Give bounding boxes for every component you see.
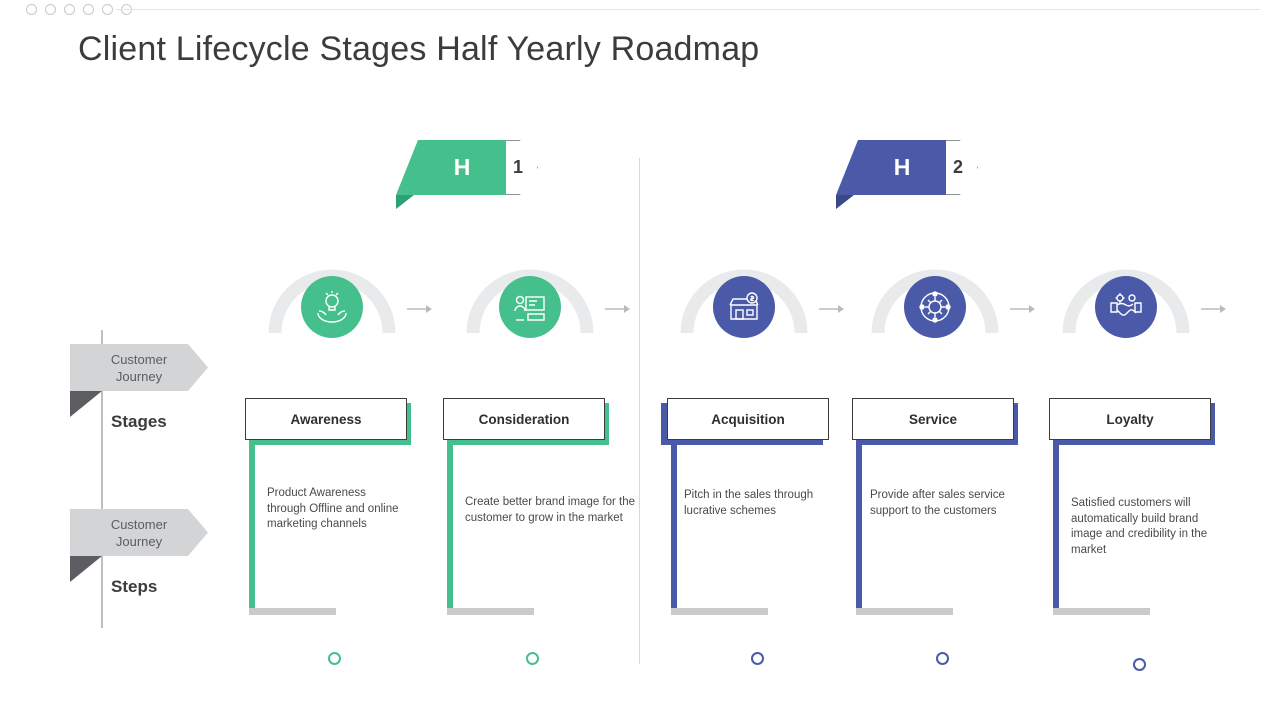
stage-description-awareness: Product Awareness through Offline and on… — [267, 486, 399, 533]
stem-awareness — [249, 440, 255, 608]
endpoint-dot-acquisition — [751, 652, 764, 665]
tag-corner-1 — [70, 391, 102, 417]
top-rule — [116, 9, 1260, 10]
hands-idea-icon — [301, 276, 363, 338]
stage-name: Acquisition — [711, 412, 785, 427]
tag-line-1: Customer — [111, 351, 167, 368]
stem-consideration — [447, 440, 453, 608]
endpoint-dot-loyalty — [1133, 658, 1146, 671]
stem-acquisition — [671, 440, 677, 608]
stages-title: Stages — [111, 412, 167, 432]
stage-name: Service — [909, 412, 957, 427]
stage-description-acquisition: Pitch in the sales through lucrative sch… — [684, 488, 854, 519]
tag-line-2: Journey — [116, 368, 162, 385]
tag-line-1: Customer — [111, 516, 167, 533]
flow-arrow-4 — [1010, 301, 1036, 311]
slide-dot — [64, 4, 75, 15]
half-banner-2-number: 2 — [946, 140, 970, 195]
stage-name: Loyalty — [1106, 412, 1153, 427]
half-banner-1-tail — [396, 195, 414, 209]
flow-arrow-3 — [819, 301, 845, 311]
baseline-loyalty — [1053, 608, 1150, 615]
tag-line-2: Journey — [116, 533, 162, 550]
half-banner-2-label: H — [858, 140, 946, 195]
flow-arrow-2 — [605, 301, 631, 311]
half-banner-1-number: 1 — [506, 140, 530, 195]
half-banner-1-label: H — [418, 140, 506, 195]
stage-card-awareness[interactable]: Awareness — [245, 398, 407, 440]
baseline-awareness — [249, 608, 336, 615]
endpoint-dot-consideration — [526, 652, 539, 665]
stage-description-consideration: Create better brand image for the custom… — [465, 495, 640, 526]
slide-dot — [26, 4, 37, 15]
half-banner-1-arrow: 1 — [506, 140, 538, 195]
page-title: Client Lifecycle Stages Half Yearly Road… — [78, 30, 759, 69]
flow-arrow-5 — [1201, 301, 1227, 311]
slide-dot — [83, 4, 94, 15]
flow-arrow-1 — [407, 301, 433, 311]
half-banner-2-tail — [836, 195, 854, 209]
stage-card-acquisition[interactable]: Acquisition — [667, 398, 829, 440]
endpoint-dot-service — [936, 652, 949, 665]
slide-dot — [45, 4, 56, 15]
stage-name: Consideration — [479, 412, 570, 427]
slide-dot — [102, 4, 113, 15]
section-divider — [639, 158, 640, 664]
stage-card-consideration[interactable]: Consideration — [443, 398, 605, 440]
baseline-acquisition — [671, 608, 768, 615]
stage-card-loyalty[interactable]: Loyalty — [1049, 398, 1211, 440]
endpoint-dot-awareness — [328, 652, 341, 665]
stem-loyalty — [1053, 440, 1059, 608]
presentation-person-icon — [499, 276, 561, 338]
stage-card-service[interactable]: Service — [852, 398, 1014, 440]
baseline-service — [856, 608, 953, 615]
steps-title: Steps — [111, 577, 157, 597]
handshake-gears-icon — [1095, 276, 1157, 338]
top-bar — [0, 0, 1280, 20]
tag-corner-2 — [70, 556, 102, 582]
customer-journey-tag-1: Customer Journey — [70, 344, 208, 391]
gear-network-icon — [904, 276, 966, 338]
stage-description-service: Provide after sales service support to t… — [870, 488, 1035, 519]
half-banner-2-arrow: 2 — [946, 140, 978, 195]
stage-description-loyalty: Satisfied customers will automatically b… — [1071, 496, 1221, 558]
store-money-icon — [713, 276, 775, 338]
customer-journey-tag-2: Customer Journey — [70, 509, 208, 556]
stem-service — [856, 440, 862, 608]
stage-name: Awareness — [290, 412, 361, 427]
baseline-consideration — [447, 608, 534, 615]
